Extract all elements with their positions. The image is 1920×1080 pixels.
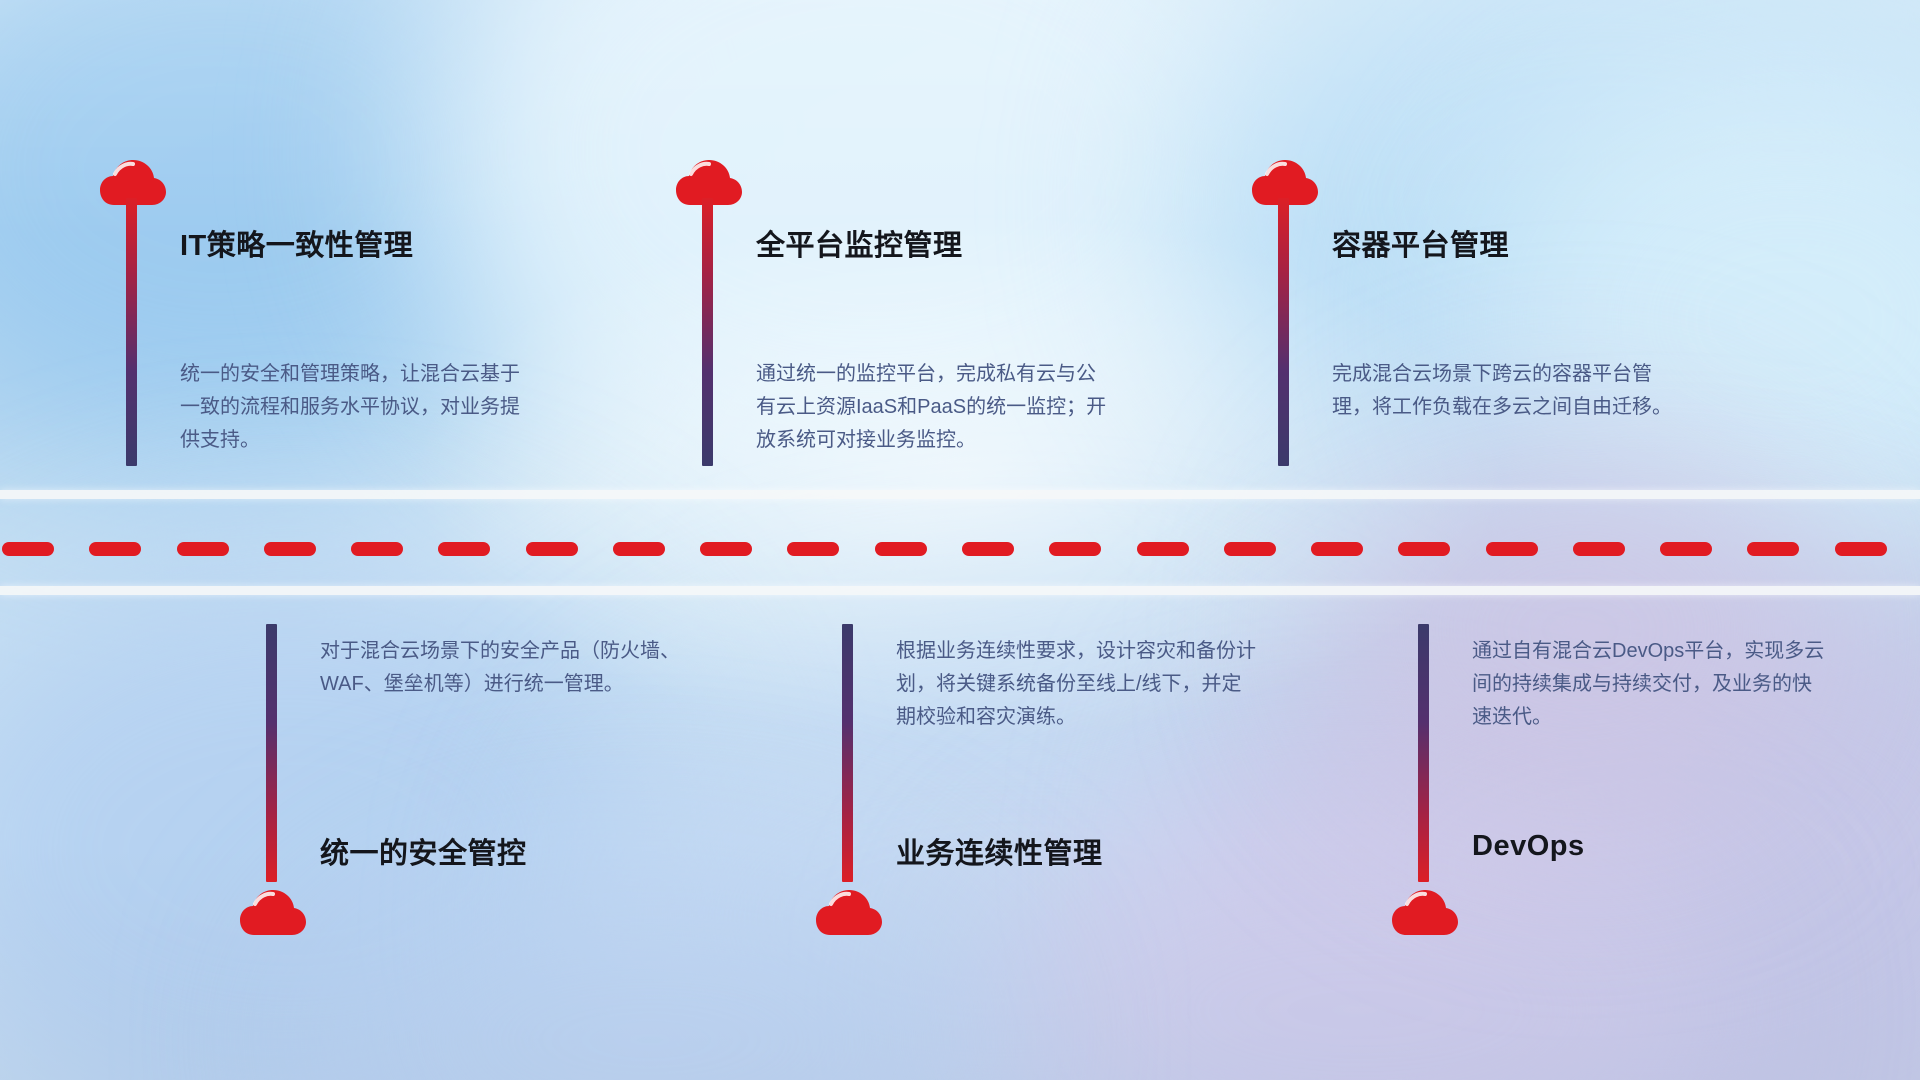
road-dash	[1660, 542, 1712, 556]
road-dash	[1398, 542, 1450, 556]
road-dash	[177, 542, 229, 556]
road-dash	[700, 542, 752, 556]
road-dash	[526, 542, 578, 556]
road-dash	[2, 542, 54, 556]
connector-stem	[126, 198, 137, 466]
road-dash	[264, 542, 316, 556]
road-dash	[1137, 542, 1189, 556]
road-dash	[787, 542, 839, 556]
road-dash	[438, 542, 490, 556]
card-title: DevOps	[1472, 830, 1585, 863]
card-body: 完成混合云场景下跨云的容器平台管理，将工作负载在多云之间自由迁移。	[1332, 358, 1684, 424]
card-body: 通过自有混合云DevOps平台，实现多云间的持续集成与持续交付，及业务的快速迭代…	[1472, 635, 1828, 734]
road-dashed-center-line	[0, 542, 1920, 556]
connector-stem	[266, 624, 277, 882]
road-edge-line-top	[0, 490, 1920, 499]
road-dash	[1835, 542, 1887, 556]
cloud-icon	[1392, 890, 1458, 936]
cloud-icon	[816, 890, 882, 936]
road-dash	[1573, 542, 1625, 556]
connector-stem	[1278, 198, 1289, 466]
infographic-canvas: IT策略一致性管理 统一的安全和管理策略，让混合云基于一致的流程和服务水平协议，…	[0, 0, 1920, 1080]
card-title: 全平台监控管理	[756, 222, 963, 264]
cloud-icon	[240, 890, 306, 936]
road-dash	[875, 542, 927, 556]
connector-stem	[842, 624, 853, 882]
card-title: 统一的安全管控	[320, 830, 527, 872]
road-dash	[1747, 542, 1799, 556]
road-dash	[89, 542, 141, 556]
card-title: 容器平台管理	[1332, 222, 1509, 264]
road-dash	[962, 542, 1014, 556]
road-edge-line-bottom	[0, 586, 1920, 595]
card-body: 对于混合云场景下的安全产品（防火墙、WAF、堡垒机等）进行统一管理。	[320, 635, 680, 701]
road-dash	[1049, 542, 1101, 556]
card-body: 统一的安全和管理策略，让混合云基于一致的流程和服务水平协议，对业务提供支持。	[180, 358, 532, 457]
road-dash	[351, 542, 403, 556]
road-dash	[1224, 542, 1276, 556]
connector-stem	[702, 198, 713, 466]
road-dash	[613, 542, 665, 556]
card-body: 根据业务连续性要求，设计容灾和备份计划，将关键系统备份至线上/线下，并定期校验和…	[896, 635, 1256, 734]
card-body: 通过统一的监控平台，完成私有云与公有云上资源IaaS和PaaS的统一监控；开放系…	[756, 358, 1112, 457]
road-dash	[1311, 542, 1363, 556]
card-title: IT策略一致性管理	[180, 222, 413, 264]
road-dash	[1486, 542, 1538, 556]
card-title: 业务连续性管理	[896, 830, 1103, 872]
connector-stem	[1418, 624, 1429, 882]
